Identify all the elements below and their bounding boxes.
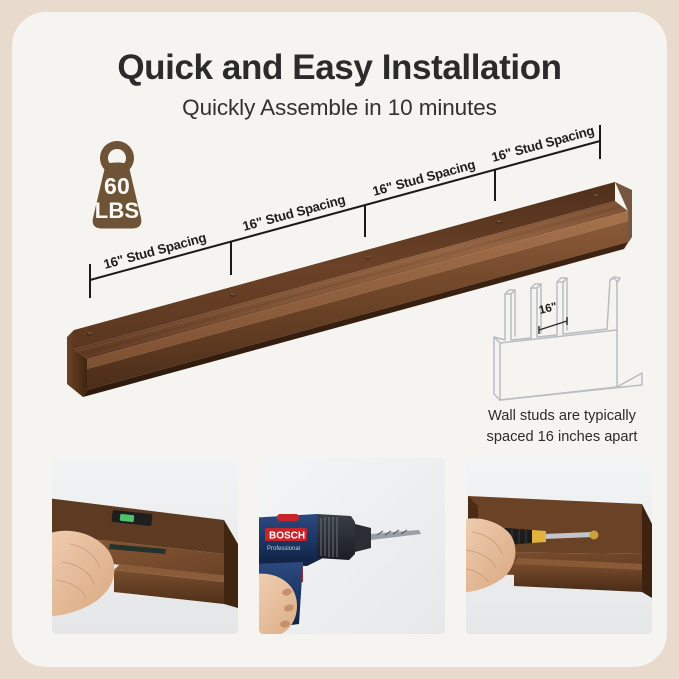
wall-stud-diagram: 16" [467,274,657,402]
dimension-label-1: 16" Stud Spacing [102,230,208,272]
stud-caption-line-2: spaced 16 inches apart [487,429,638,445]
infographic-root: Quick and Easy Installation Quickly Asse… [0,0,679,679]
installation-step-photos: BOSCH Professional [52,458,652,634]
step-photo-drill-pilot-holes: BOSCH Professional [259,458,445,634]
weight-capacity-badge: 60 LBS [81,140,153,232]
svg-text:Professional: Professional [267,546,300,552]
weight-value: 60 [81,175,153,198]
dimension-label-4: 16" Stud Spacing [490,123,596,165]
content-card: Quick and Easy Installation Quickly Asse… [12,12,667,667]
step-photo-level-the-shelf [52,458,238,634]
dimension-label-3: 16" Stud Spacing [371,157,477,199]
dimension-label-2: 16" Stud Spacing [241,192,347,234]
stud-diagram-caption: Wall studs are typically spaced 16 inche… [456,406,667,447]
step-photo-fasten-with-screwdriver [466,458,652,634]
stud-caption-line-1: Wall studs are typically [488,408,636,424]
weight-unit: LBS [81,200,153,222]
svg-text:BOSCH: BOSCH [269,531,305,542]
